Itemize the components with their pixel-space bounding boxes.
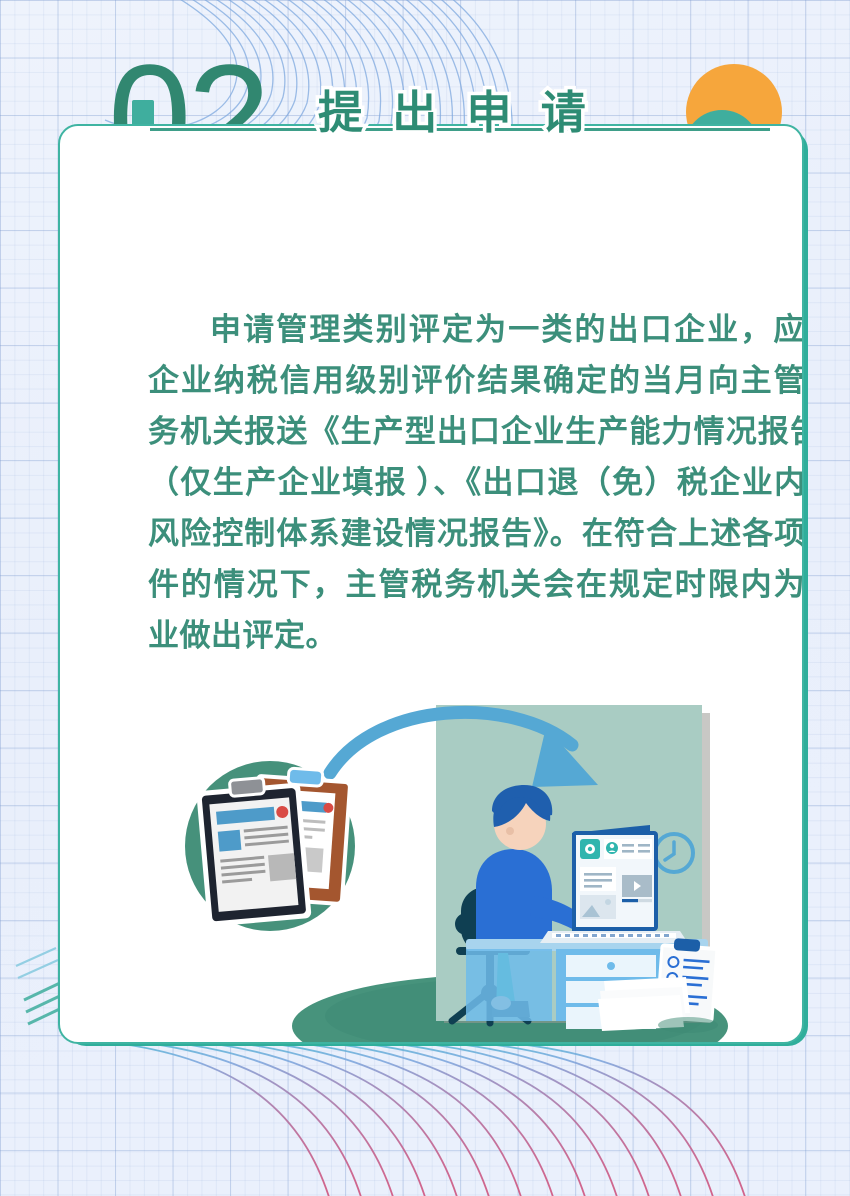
poster-canvas: 02 申请管理类别评定为一类的出口企业，应于企业纳税信用级别评价结果确定的当月向… xyxy=(0,0,850,1196)
clipboard-documents-badge xyxy=(185,761,355,931)
title-block: 提 出 申 请 xyxy=(150,88,770,158)
illustration xyxy=(180,691,750,1044)
body-paragraph: 申请管理类别评定为一类的出口企业，应于企业纳税信用级别评价结果确定的当月向主管税… xyxy=(148,304,804,661)
content-card: 申请管理类别评定为一类的出口企业，应于企业纳税信用级别评价结果确定的当月向主管税… xyxy=(58,124,804,1044)
page-title: 提 出 申 请 xyxy=(318,84,595,142)
